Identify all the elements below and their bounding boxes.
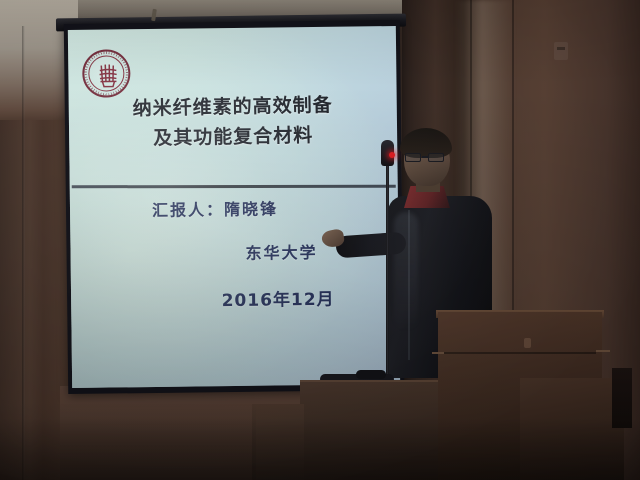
- lectern-keyhole: [524, 338, 531, 348]
- slide-title: 纳米纤维素的高效制备 及其功能复合材料: [68, 89, 397, 155]
- projector-screen-surface: 纳米纤维素的高效制备 及其功能复合材料 汇报人：隋晓锋 东华大学 2016年12…: [68, 26, 400, 388]
- presenter-torso-highlight: [394, 212, 418, 332]
- projector-screen-frame: 纳米纤维素的高效制备 及其功能复合材料 汇报人：隋晓锋 东华大学 2016年12…: [64, 20, 404, 394]
- presenter-glasses-icon: [404, 153, 448, 162]
- glasses-left-lens: [405, 153, 421, 162]
- lectern-left-handle: [432, 352, 444, 354]
- slide-date: 2016年12月: [193, 284, 363, 311]
- wall-socket: [554, 42, 568, 60]
- donghua-university-seal-icon: [82, 49, 131, 98]
- lectern-right-handle: [596, 350, 610, 352]
- presenter-jacket-zipper: [408, 210, 410, 360]
- cable-bundle-secondary: [356, 370, 386, 379]
- lecture-hall-scene: 纳米纤维素的高效制备 及其功能复合材料 汇报人：隋晓锋 东华大学 2016年12…: [0, 0, 640, 480]
- microphone-status-led: [389, 152, 395, 158]
- slide-presenter-line: 汇报人：隋晓锋: [70, 194, 360, 222]
- seal-loom-emblem-icon: [96, 62, 120, 88]
- floor-shadow: [0, 418, 640, 480]
- slide-divider-line: [72, 185, 396, 189]
- lectern-rail: [444, 352, 596, 354]
- slide-title-line-2: 及其功能复合材料: [69, 119, 398, 155]
- glasses-right-lens: [428, 153, 444, 162]
- microphone-stand: [386, 150, 389, 388]
